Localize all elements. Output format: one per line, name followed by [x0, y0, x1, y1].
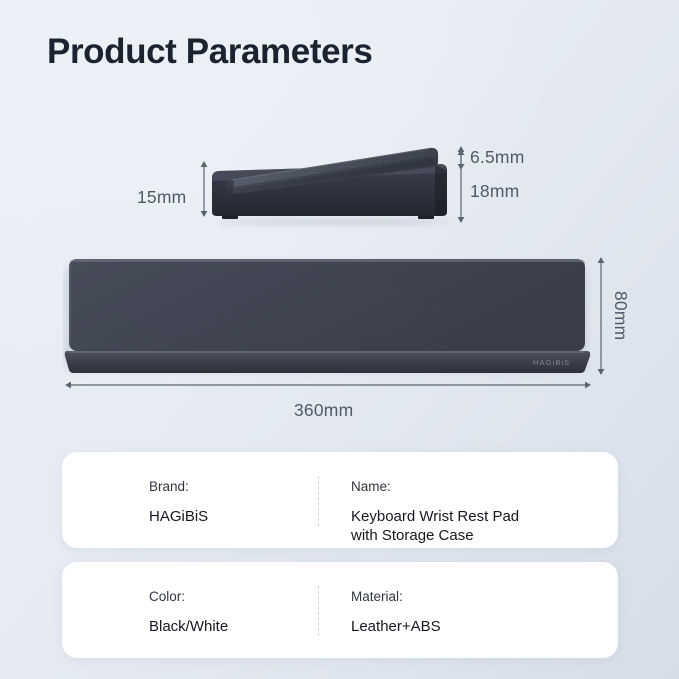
- info-card-color-material: Color: Black/White Material: Leather+ABS: [62, 562, 618, 658]
- side-view-illustration: [204, 142, 456, 228]
- brand-emboss-label: HAGiBiS: [533, 358, 570, 367]
- page-title: Product Parameters: [47, 32, 372, 72]
- product-parameters-page: Product Parameters: [0, 0, 679, 679]
- dimension-label-18mm: 18mm: [470, 181, 519, 202]
- brand-label: Brand:: [149, 480, 318, 494]
- dimension-arrow-15mm: [198, 160, 210, 223]
- card-divider: [318, 586, 319, 636]
- name-label: Name:: [351, 480, 618, 494]
- material-label: Material:: [351, 590, 618, 604]
- color-value: Black/White: [149, 617, 318, 637]
- name-value: Keyboard Wrist Rest Pad with Storage Cas…: [351, 507, 618, 547]
- wrist-rest-front-lip: [65, 351, 590, 373]
- card-divider: [318, 476, 319, 526]
- info-card-brand-name: Brand: HAGiBiS Name: Keyboard Wrist Rest…: [62, 452, 618, 548]
- dimension-label-80mm: 80mm: [610, 291, 631, 340]
- info-field-name: Name: Keyboard Wrist Rest Pad with Stora…: [318, 480, 618, 546]
- top-view-svg: HAGiBiS: [63, 252, 591, 379]
- dimension-label-6-5mm: 6.5mm: [470, 147, 524, 168]
- info-field-material: Material: Leather+ABS: [318, 590, 618, 636]
- material-value: Leather+ABS: [351, 617, 618, 637]
- dimension-arrow-360mm: [64, 378, 592, 396]
- case-foot-right: [418, 215, 434, 219]
- top-view-illustration: HAGiBiS: [63, 252, 591, 379]
- dimension-arrow-18mm: [455, 148, 467, 229]
- dimension-label-360mm: 360mm: [294, 400, 353, 421]
- dimension-label-15mm: 15mm: [137, 187, 186, 208]
- dimension-arrow-80mm: [595, 256, 607, 381]
- side-view-svg: [204, 142, 456, 228]
- info-field-brand: Brand: HAGiBiS: [62, 480, 318, 526]
- brand-value: HAGiBiS: [149, 507, 318, 527]
- info-field-color: Color: Black/White: [62, 590, 318, 636]
- color-label: Color:: [149, 590, 318, 604]
- case-foot-left: [222, 215, 238, 219]
